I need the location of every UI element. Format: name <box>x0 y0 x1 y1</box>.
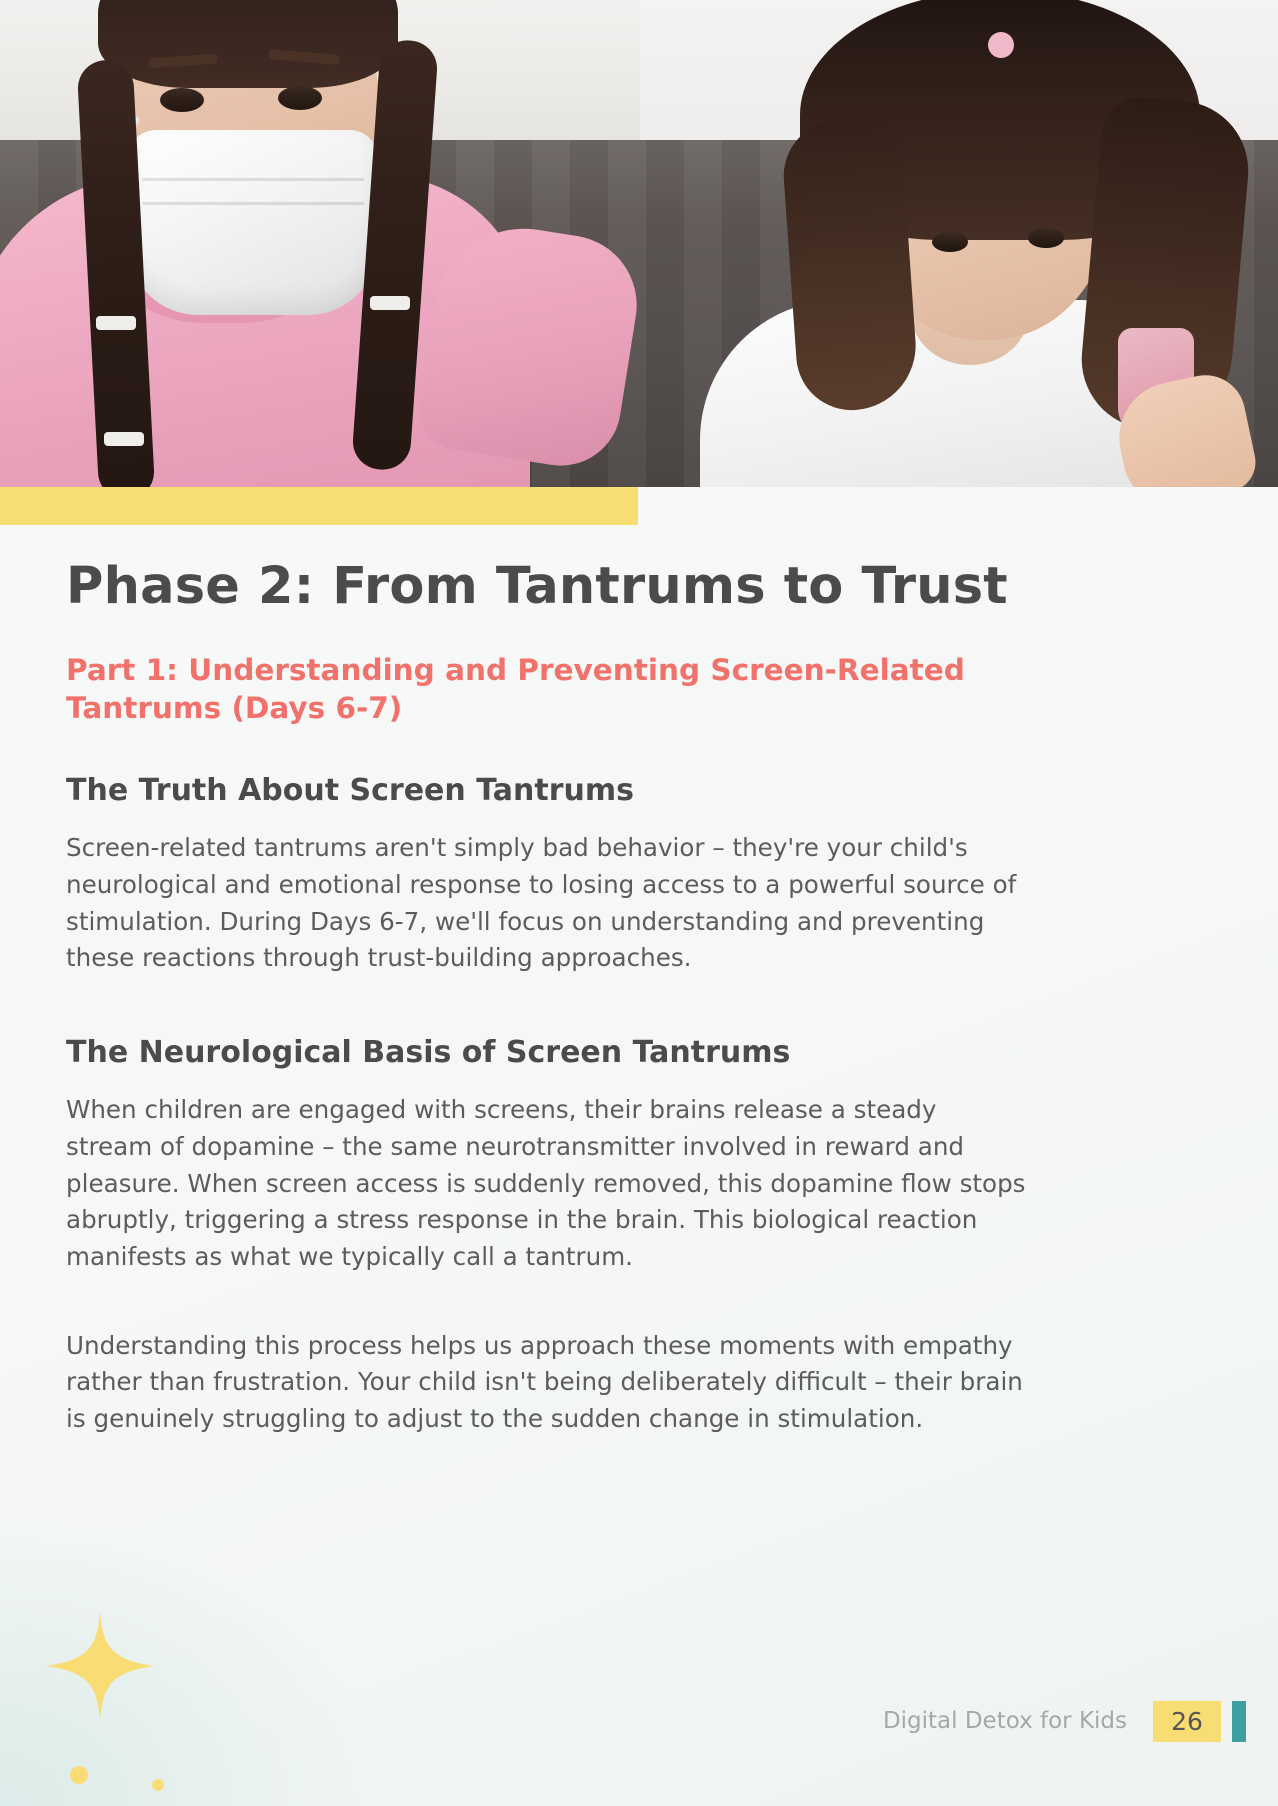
hero-photo <box>0 0 1278 487</box>
decorative-dot <box>70 1766 88 1784</box>
section-paragraph: Understanding this process helps us appr… <box>66 1328 1026 1438</box>
page-content: Phase 2: From Tantrums to Trust Part 1: … <box>0 525 1278 1437</box>
teal-accent-tab <box>1232 1701 1246 1742</box>
yellow-accent-bar <box>0 487 638 525</box>
section-paragraph: Screen-related tantrums aren't simply ba… <box>66 830 1026 977</box>
photo-face-mask <box>128 130 378 315</box>
section-heading-neurological-basis: The Neurological Basis of Screen Tantrum… <box>66 1034 1076 1072</box>
photo-hair-tie-left <box>96 316 136 330</box>
decorative-dot <box>152 1779 164 1791</box>
photo-girl-right-eye-right <box>1028 228 1064 248</box>
footer-book-title: Digital Detox for Kids <box>883 1708 1127 1734</box>
photo-girl-left-hair <box>98 0 398 88</box>
page-number-badge: 26 <box>1153 1701 1221 1742</box>
photo-hair-tie-left-lower <box>104 432 144 446</box>
page-subtitle: Part 1: Understanding and Preventing Scr… <box>66 651 966 728</box>
document-page: Phase 2: From Tantrums to Trust Part 1: … <box>0 0 1278 1806</box>
page-title: Phase 2: From Tantrums to Trust <box>66 558 1086 615</box>
photo-girl-left-eye-left <box>160 88 204 112</box>
photo-hair-tie-right <box>370 296 410 310</box>
page-footer: Digital Detox for Kids 26 <box>0 1692 1278 1750</box>
photo-girl-right-eye-left <box>932 232 968 252</box>
section-heading-truth-about-screen-tantrums: The Truth About Screen Tantrums <box>66 772 1076 810</box>
photo-girl-right-hair-left <box>780 116 920 414</box>
section-paragraph: When children are engaged with screens, … <box>66 1092 1026 1275</box>
photo-girl-left-eye-right <box>278 86 322 110</box>
photo-hair-scrunchie <box>988 32 1014 58</box>
